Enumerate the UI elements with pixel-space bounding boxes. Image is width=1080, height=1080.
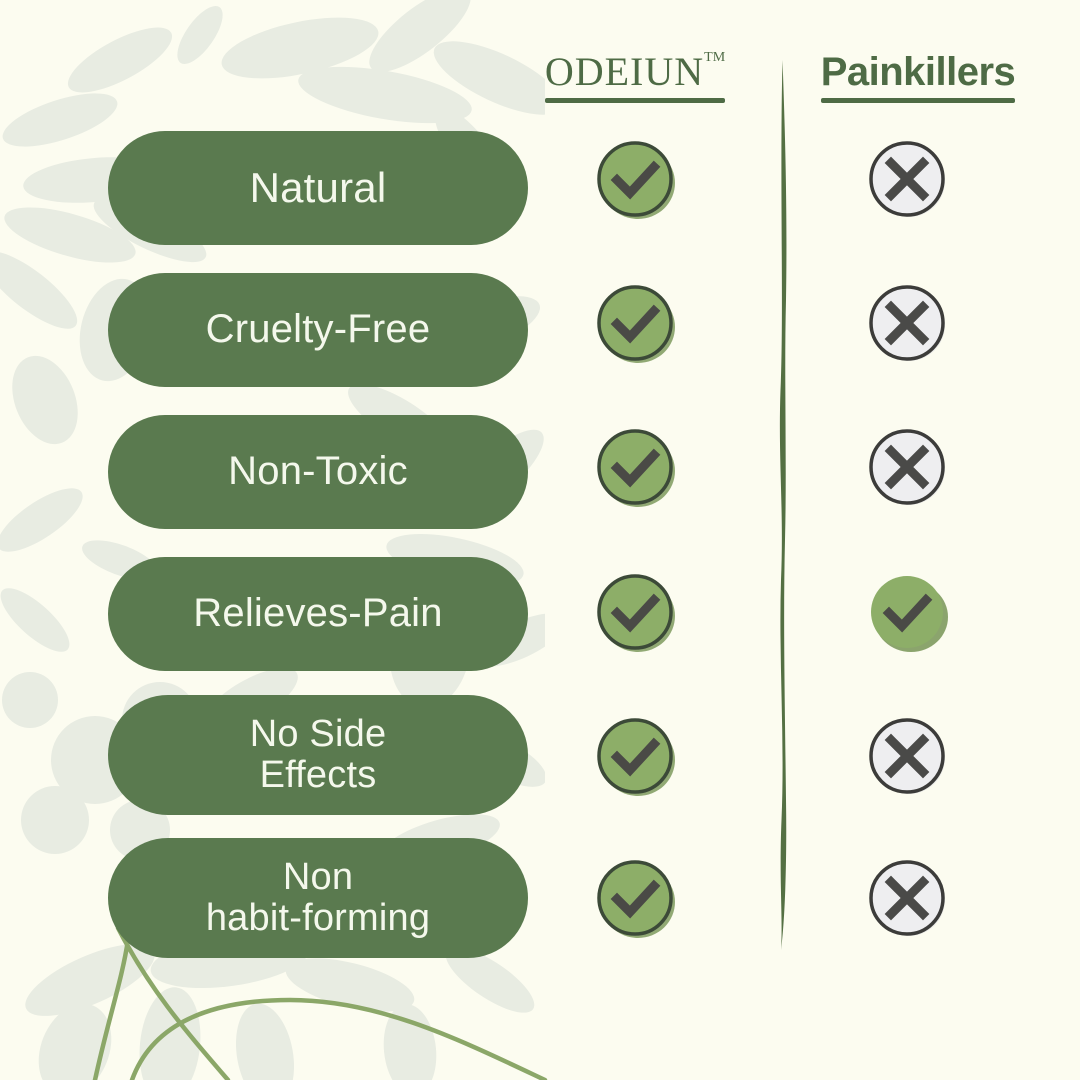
brand-logo-text: ODEIUNTM [545,52,725,92]
check-circle-icon [589,852,681,944]
cell-odeiun-natural [589,133,681,225]
feature-pill-label: No Side Effects [250,714,387,796]
feature-pill: Relieves-Pain [108,557,528,671]
cross-circle-icon [861,852,953,944]
column-header-odeiun: ODEIUNTM [523,52,747,103]
feature-pill-label: Non-Toxic [228,450,408,493]
feature-pill: Cruelty-Free [108,273,528,387]
cross-circle-icon [861,710,953,802]
cell-odeiun-non-habit-forming [589,852,681,944]
check-circle-icon [589,710,681,802]
check-circle-icon [861,566,953,658]
cell-painkillers-natural [861,133,953,225]
cell-odeiun-relieves-pain [589,566,681,658]
column-divider-line [762,60,802,950]
feature-pill-label: Relieves-Pain [193,592,442,635]
feature-pill-label: Non habit-forming [206,857,430,939]
cell-odeiun-non-toxic [589,421,681,513]
cell-odeiun-cruelty-free [589,277,681,369]
feature-pill-column: Natural Cruelty-Free Non-Toxic Relieves-… [108,0,528,1080]
check-circle-icon [589,421,681,513]
feature-pill-label: Natural [250,165,387,210]
comparison-chart-canvas: ODEIUNTM Painkillers Natural Cruelty-Fre… [0,0,1080,1080]
painkillers-title: Painkillers [821,52,1016,92]
feature-pill: Natural [108,131,528,245]
cell-painkillers-relieves-pain [861,566,953,658]
cell-painkillers-non-habit-forming [861,852,953,944]
cell-odeiun-no-side-effects [589,710,681,802]
cross-circle-icon [861,277,953,369]
painkillers-header-underline [821,98,1016,103]
trademark-symbol: TM [704,50,725,65]
cell-painkillers-no-side-effects [861,710,953,802]
cell-painkillers-non-toxic [861,421,953,513]
cross-circle-icon [861,421,953,513]
odeiun-header-underline [545,98,725,103]
check-circle-icon [589,133,681,225]
check-circle-icon [589,566,681,658]
cell-painkillers-cruelty-free [861,277,953,369]
cross-circle-icon [861,133,953,225]
feature-pill: Non habit-forming [108,838,528,958]
feature-pill-label: Cruelty-Free [206,308,431,351]
check-circle-icon [589,277,681,369]
feature-pill: No Side Effects [108,695,528,815]
feature-pill: Non-Toxic [108,415,528,529]
brand-name: ODEIUN [545,49,704,94]
column-header-painkillers: Painkillers [805,52,1031,103]
